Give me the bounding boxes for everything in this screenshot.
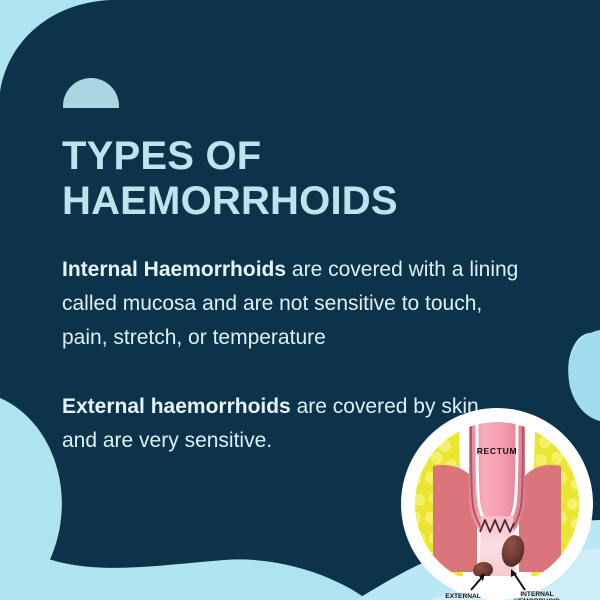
label-external-hemorrhoid-line1: EXTERNAL	[445, 593, 481, 600]
page-title: TYPES OF HAEMORRHOIDS	[62, 134, 532, 224]
paragraph-internal-haemorrhoids: Internal Haemorrhoids are covered with a…	[62, 253, 532, 355]
paragraph-2-lead: External haemorrhoids	[62, 395, 291, 418]
label-rectum: RECTUM	[477, 446, 518, 456]
infographic-poster: TYPES OF HAEMORRHOIDS Internal Haemorrho…	[0, 0, 600, 600]
dome-accent-icon	[63, 78, 119, 108]
hemorrhoid-anatomy-illustration: RECTUM EXTERNAL HEMORRHOID INTERNAL HEMO…	[397, 404, 597, 600]
label-internal-hemorrhoid-line1: INTERNAL	[520, 591, 553, 598]
dome-shape	[63, 78, 119, 108]
muscle-right	[519, 465, 561, 572]
anatomy-diagram-svg: RECTUM EXTERNAL HEMORRHOID INTERNAL HEMO…	[397, 404, 597, 600]
paragraph-1-lead: Internal Haemorrhoids	[62, 258, 286, 281]
anatomy-contents	[397, 404, 597, 600]
